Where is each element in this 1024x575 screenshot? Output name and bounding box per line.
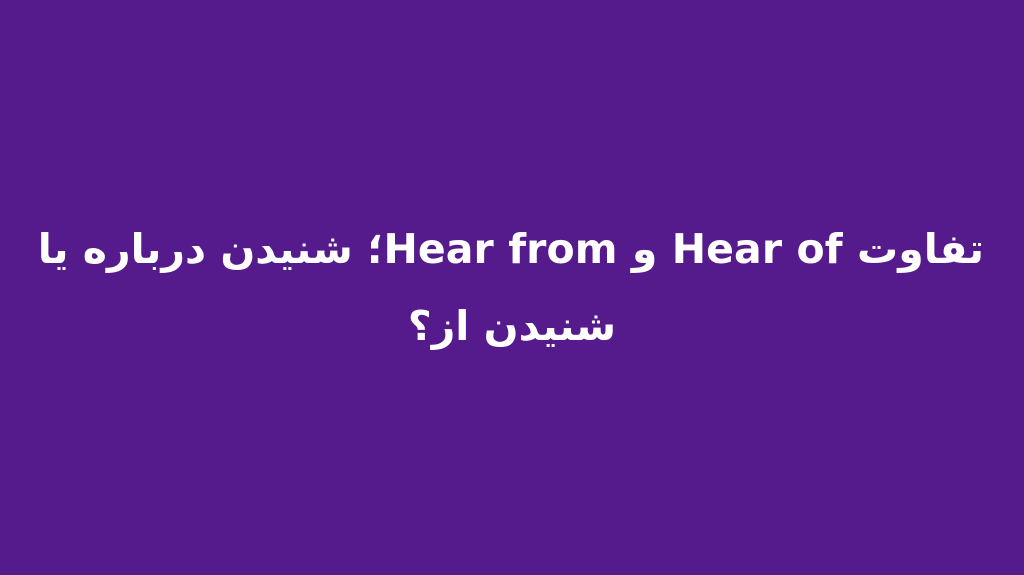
title-block: تفاوت Hear of و Hear from؛ شنیدن درباره …: [0, 211, 1024, 365]
page-title-line-2: شنیدن از؟: [40, 288, 984, 365]
title-banner: تفاوت Hear of و Hear from؛ شنیدن درباره …: [0, 0, 1024, 575]
page-title-line-1: تفاوت Hear of و Hear from؛ شنیدن درباره …: [40, 211, 984, 288]
